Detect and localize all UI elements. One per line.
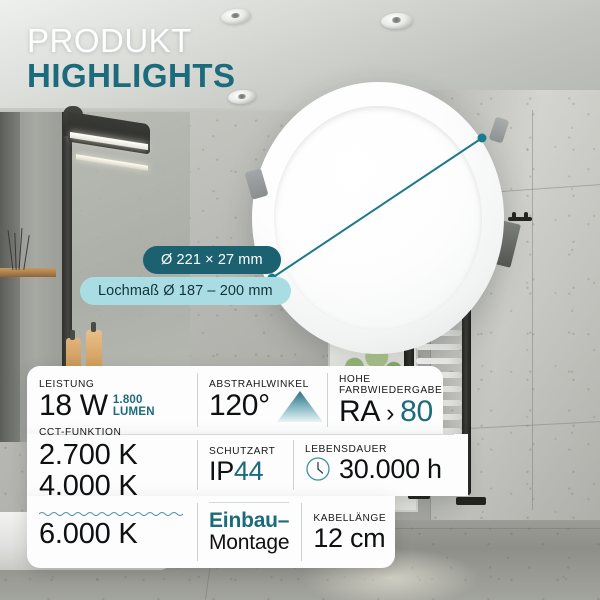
dimension-badge: Ø 221 × 27 mm — [143, 246, 281, 274]
towel-hook-icon — [508, 212, 532, 225]
spec-schutzart: SCHUTZART IP 44 — [197, 434, 293, 496]
spec-value: 30.000 h — [339, 456, 442, 483]
cct-value-3: 6.000 K — [39, 518, 185, 551]
product-highlights-infographic: PRODUKT HIGHLIGHTS Ø 221 × 27 mm Lochmaß… — [0, 0, 600, 600]
card-divider — [209, 502, 289, 503]
spec-card-row-3: 6.000 K Einbau– Montage KABELLÄNGE 12 cm — [27, 496, 395, 568]
mount-line-2: Montage — [209, 532, 289, 554]
spec-label: LEBENSDAUER — [305, 444, 456, 455]
ra-number: 80 — [400, 397, 433, 427]
spec-label: SCHUTZART — [209, 446, 281, 457]
lumen-group: 1.800 LUMEN — [113, 395, 155, 421]
mount-value-group: Einbau– Montage — [209, 510, 289, 555]
wavy-underline-icon — [39, 511, 185, 516]
spec-cct-funktion-continued: 6.000 K — [27, 496, 197, 568]
led-panel-product — [252, 82, 504, 354]
spec-value-group: 18 W 1.800 LUMEN — [39, 391, 185, 421]
cutout-dimension-badge: Lochmaß Ø 187 – 200 mm — [80, 277, 291, 305]
spec-value-group: RA › 80 — [339, 397, 431, 427]
cct-value-1: 2.700 K — [39, 439, 185, 472]
spec-value-group: 30.000 h — [305, 456, 456, 487]
spec-value-group: 120° — [209, 391, 315, 422]
spec-montage: Einbau– Montage — [197, 496, 301, 568]
spec-label: KABELLÄNGE — [313, 513, 386, 524]
spec-cct-funktion: CCT-FUNKTION 2.700 K 4.000 K — [27, 434, 197, 496]
ip-number: 44 — [234, 458, 263, 485]
reed-diffuser — [8, 228, 34, 270]
bottle-pump — [91, 322, 96, 332]
tile-seam — [532, 110, 533, 510]
radiator-valve — [456, 497, 486, 505]
spec-value: 12 cm — [313, 525, 386, 552]
spec-value-group: IP 44 — [209, 458, 281, 485]
spec-lebensdauer: LEBENSDAUER 30.000 h — [293, 434, 468, 496]
title-line-1: PRODUKT — [27, 24, 236, 58]
lumen-unit: LUMEN — [113, 407, 155, 419]
spec-kabellaenge: KABELLÄNGE 12 cm — [301, 496, 398, 568]
title-line-2: HIGHLIGHTS — [27, 59, 236, 93]
clock-icon — [305, 456, 331, 487]
beam-angle-triangle-icon — [277, 391, 323, 422]
greater-than-icon: › — [385, 401, 395, 426]
spec-label: CCT-FUNKTION — [39, 427, 185, 438]
spec-farbwiedergabe: HOHE FARBWIEDERGABE RA › 80 — [327, 366, 443, 434]
bottle-pump — [70, 330, 75, 340]
ip-prefix: IP — [209, 458, 234, 485]
ra-prefix: RA — [339, 397, 380, 427]
spec-leistung: LEISTUNG 18 W 1.800 LUMEN — [27, 366, 197, 434]
spec-label: HOHE FARBWIEDERGABE — [339, 374, 431, 396]
spec-card-row-1: LEISTUNG 18 W 1.800 LUMEN ABSTRAHLWINKEL… — [27, 366, 443, 434]
spec-value: 18 W — [39, 391, 108, 421]
page-title: PRODUKT HIGHLIGHTS — [27, 24, 236, 94]
spec-abstrahlwinkel: ABSTRAHLWINKEL 120° — [197, 366, 327, 434]
spec-label: ABSTRAHLWINKEL — [209, 379, 315, 390]
spec-value: 120° — [209, 391, 270, 421]
mount-line-1: Einbau– — [209, 510, 289, 532]
alcove-shadow — [0, 112, 20, 442]
diameter-measure-line-icon — [252, 82, 504, 354]
spec-card-row-2: CCT-FUNKTION 2.700 K 4.000 K SCHUTZART I… — [27, 434, 468, 496]
